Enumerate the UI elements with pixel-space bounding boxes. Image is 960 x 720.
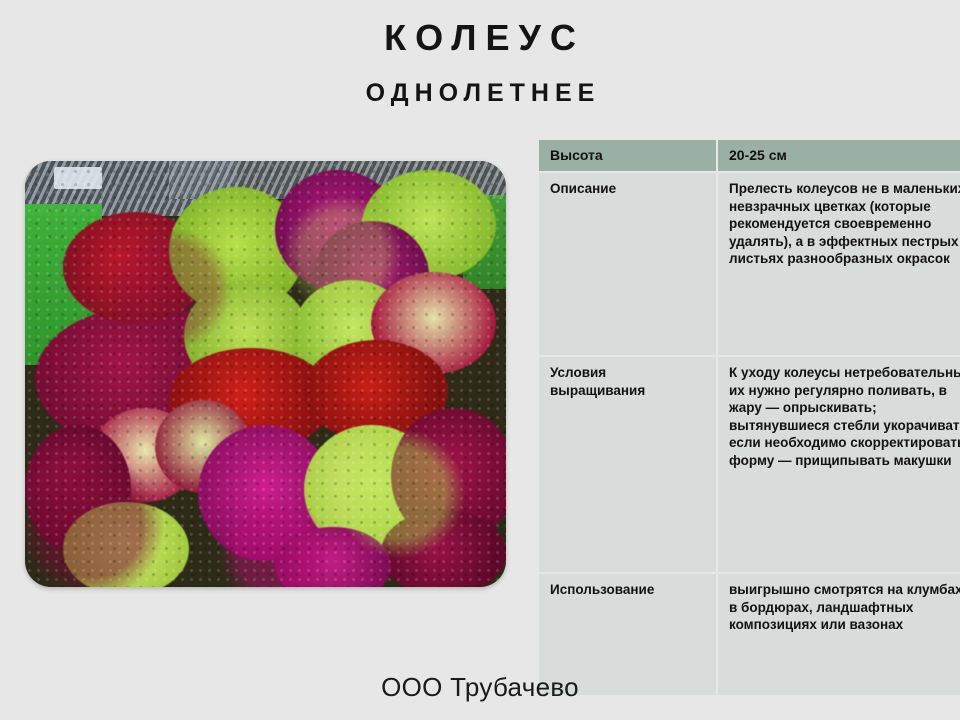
row-value-growing-conditions: К уходу колеусы нетребовательны: их нужн…: [718, 357, 960, 572]
table-row-height: Высота 20-25 см: [539, 140, 960, 171]
photo-inner: [25, 161, 506, 587]
row-value-height: 20-25 см: [718, 140, 960, 171]
leaf-mass-chartreuse-2: [63, 502, 188, 587]
table-row-growing-conditions: Условия выращивания К уходу колеусы нетр…: [539, 357, 960, 572]
plant-label-tag: [54, 167, 102, 188]
footer-company-name: ООО Трубачево: [0, 672, 960, 703]
row-label-growing-conditions: Условия выращивания: [539, 357, 716, 572]
row-label-height: Высота: [539, 140, 716, 171]
table-row-description: Описание Прелесть колеусов не в маленьки…: [539, 173, 960, 355]
row-value-description: Прелесть колеусов не в маленьких невзрач…: [718, 173, 960, 355]
title-block: КОЛЕУС ОДНОЛЕТНЕЕ: [0, 18, 960, 107]
leaf-mass-crimson-5: [381, 510, 506, 587]
page-subtitle: ОДНОЛЕТНЕЕ: [0, 80, 960, 108]
plant-spec-table: Высота 20-25 см Описание Прелесть колеус…: [537, 138, 960, 697]
coleus-bed-photo: [25, 161, 506, 587]
page-title: КОЛЕУС: [0, 18, 960, 58]
row-label-description: Описание: [539, 173, 716, 355]
